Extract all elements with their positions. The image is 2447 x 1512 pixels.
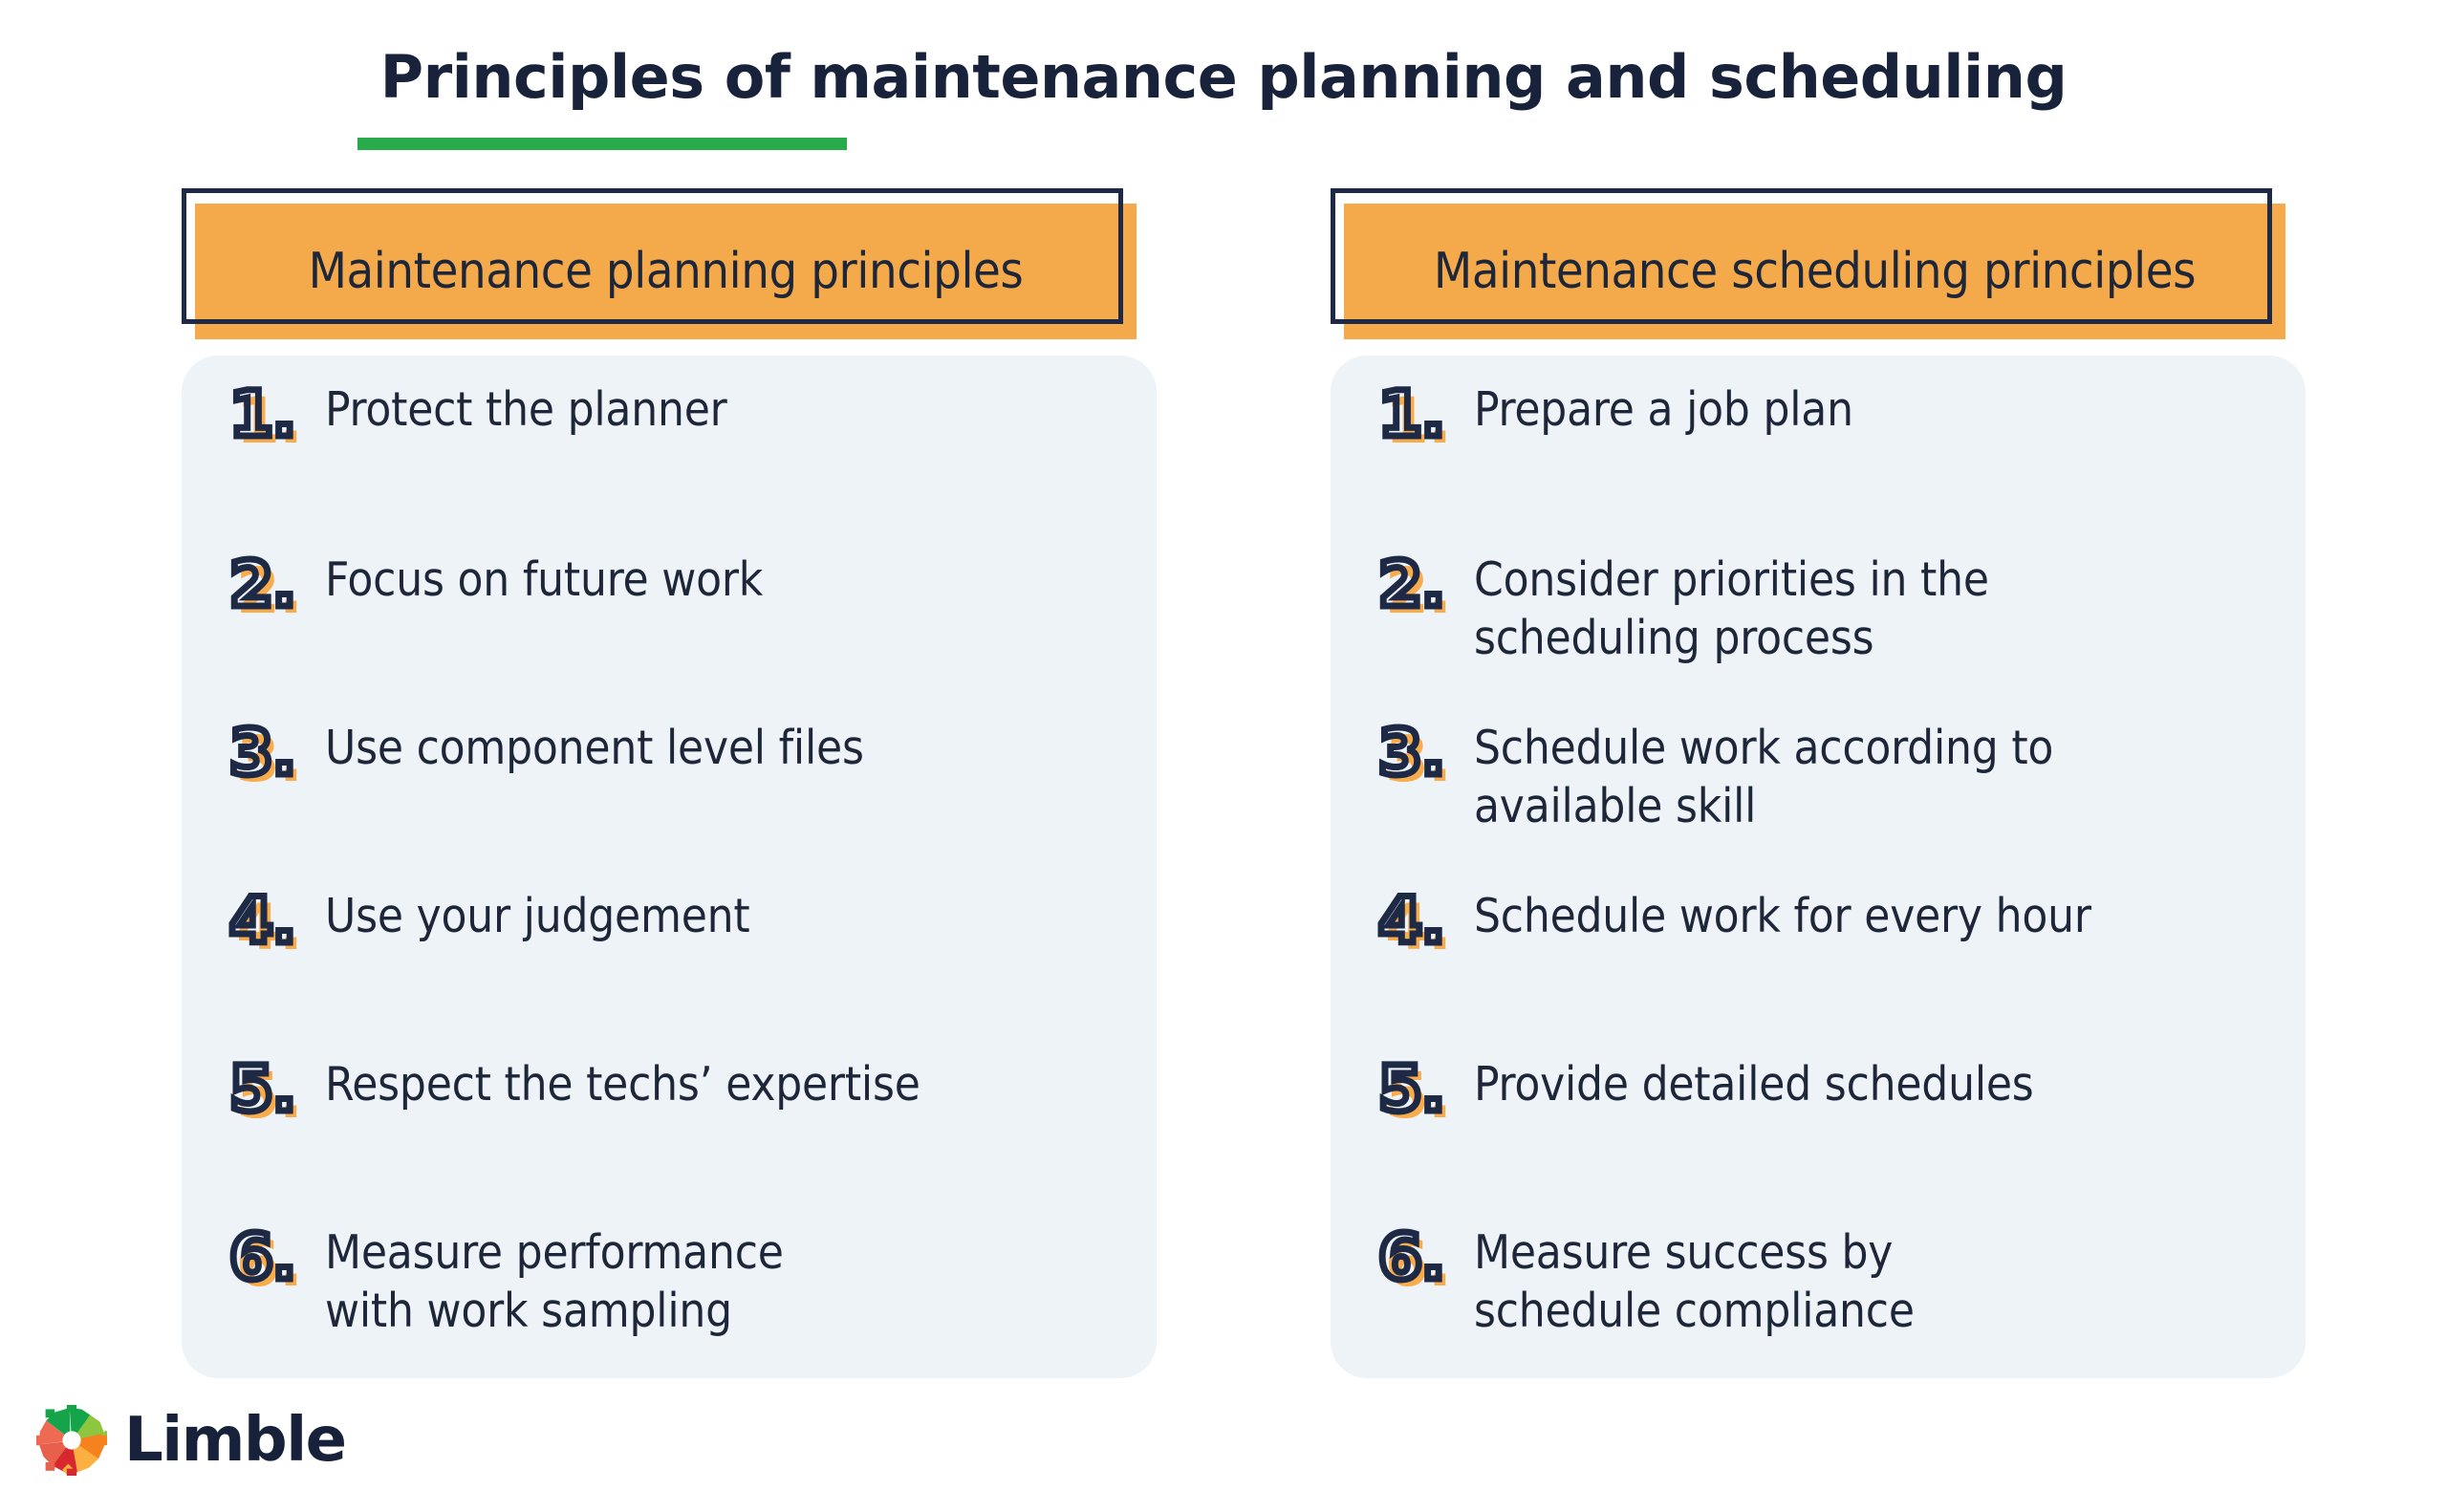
list-text-line2: schedule compliance	[1474, 1282, 1915, 1340]
list-item: 5. 5. Provide detailed schedules	[1331, 1049, 2034, 1130]
list-number: 3. 3.	[182, 713, 325, 793]
list-number: 4. 4.	[182, 881, 325, 961]
list-number: 6. 6.	[1331, 1218, 1474, 1298]
list-text-line1: Measure success by	[1474, 1225, 1893, 1280]
gear-icon	[36, 1405, 107, 1476]
list-item: 6. 6. Measure success by schedule compli…	[1331, 1218, 1915, 1340]
number-outline: 4.	[229, 881, 295, 961]
list-number: 3. 3.	[1331, 713, 1474, 793]
list-text-line1: Use your judgement	[325, 889, 749, 943]
number-outline: 2.	[1378, 545, 1444, 625]
list-text: Use component level files	[325, 713, 864, 777]
list-text-line1: Use component level files	[325, 721, 864, 775]
list-number: 1. 1.	[1331, 375, 1474, 455]
list-text: Measure performance with work sampling	[325, 1218, 784, 1340]
list-item: 1. 1. Protect the planner	[182, 375, 727, 455]
list-item: 4. 4. Use your judgement	[182, 881, 749, 961]
principles-list-planning: 1. 1. Protect the planner 2. 2. Focus on…	[182, 356, 1157, 1378]
list-text-line1: Schedule work according to	[1474, 721, 2053, 775]
list-text: Use your judgement	[325, 881, 749, 945]
list-number: 5. 5.	[182, 1049, 325, 1130]
list-text: Consider priorities in the scheduling pr…	[1474, 545, 1989, 667]
list-text-line1: Prepare a job plan	[1474, 382, 1853, 437]
principles-list-scheduling: 1. 1. Prepare a job plan 2. 2. Consider …	[1331, 356, 2306, 1378]
list-number: 5. 5.	[1331, 1049, 1474, 1130]
list-text: Provide detailed schedules	[1474, 1049, 2034, 1113]
list-item: 2. 2. Consider priorities in the schedul…	[1331, 545, 1989, 667]
list-text-line1: Focus on future work	[325, 552, 763, 607]
list-text: Prepare a job plan	[1474, 375, 1853, 439]
list-text-line2: with work sampling	[325, 1282, 784, 1340]
list-item: 3. 3. Schedule work according to availab…	[1331, 713, 2053, 835]
list-text-line1: Provide detailed schedules	[1474, 1057, 2034, 1112]
header-badge-planning: Maintenance planning principles	[182, 188, 1123, 324]
list-text-line1: Consider priorities in the	[1474, 552, 1989, 607]
list-text-line2: scheduling process	[1474, 609, 1989, 667]
list-text-line2: available skill	[1474, 777, 2053, 835]
header-badge-scheduling: Maintenance scheduling principles	[1331, 188, 2272, 324]
list-item: 6. 6. Measure performance with work samp…	[182, 1218, 784, 1340]
list-number: 6. 6.	[182, 1218, 325, 1298]
list-number: 2. 2.	[182, 545, 325, 625]
title-underline-accent	[357, 138, 847, 150]
brand-logo: Limble	[36, 1405, 346, 1476]
number-outline: 3.	[229, 713, 295, 793]
list-item: 4. 4. Schedule work for every hour	[1331, 881, 2091, 961]
number-outline: 1.	[229, 375, 295, 455]
number-outline: 1.	[1378, 375, 1444, 455]
number-outline: 5.	[1378, 1049, 1444, 1130]
list-item: 3. 3. Use component level files	[182, 713, 864, 793]
number-outline: 4.	[1378, 881, 1444, 961]
badge-label-planning: Maintenance planning principles	[188, 196, 1143, 347]
list-number: 2. 2.	[1331, 545, 1474, 625]
list-text: Protect the planner	[325, 375, 727, 439]
list-text-line1: Respect the techs’ expertise	[325, 1057, 920, 1112]
number-outline: 6.	[229, 1218, 295, 1298]
list-number: 4. 4.	[1331, 881, 1474, 961]
list-text: Schedule work for every hour	[1474, 881, 2091, 945]
list-item: 1. 1. Prepare a job plan	[1331, 375, 1853, 455]
number-outline: 2.	[229, 545, 295, 625]
list-text: Measure success by schedule compliance	[1474, 1218, 1915, 1340]
list-number: 1. 1.	[182, 375, 325, 455]
list-text-line1: Schedule work for every hour	[1474, 889, 2091, 943]
list-text: Schedule work according to available ski…	[1474, 713, 2053, 835]
list-text-line1: Protect the planner	[325, 382, 727, 437]
number-outline: 5.	[229, 1049, 295, 1130]
list-text: Respect the techs’ expertise	[325, 1049, 920, 1113]
list-text-line1: Measure performance	[325, 1225, 784, 1280]
page-title: Principles of maintenance planning and s…	[0, 42, 2447, 112]
list-text: Focus on future work	[325, 545, 763, 609]
list-item: 2. 2. Focus on future work	[182, 545, 763, 625]
list-item: 5. 5. Respect the techs’ expertise	[182, 1049, 920, 1130]
brand-name: Limble	[124, 1405, 346, 1476]
number-outline: 3.	[1378, 713, 1444, 793]
badge-label-scheduling: Maintenance scheduling principles	[1337, 196, 2292, 347]
number-outline: 6.	[1378, 1218, 1444, 1298]
